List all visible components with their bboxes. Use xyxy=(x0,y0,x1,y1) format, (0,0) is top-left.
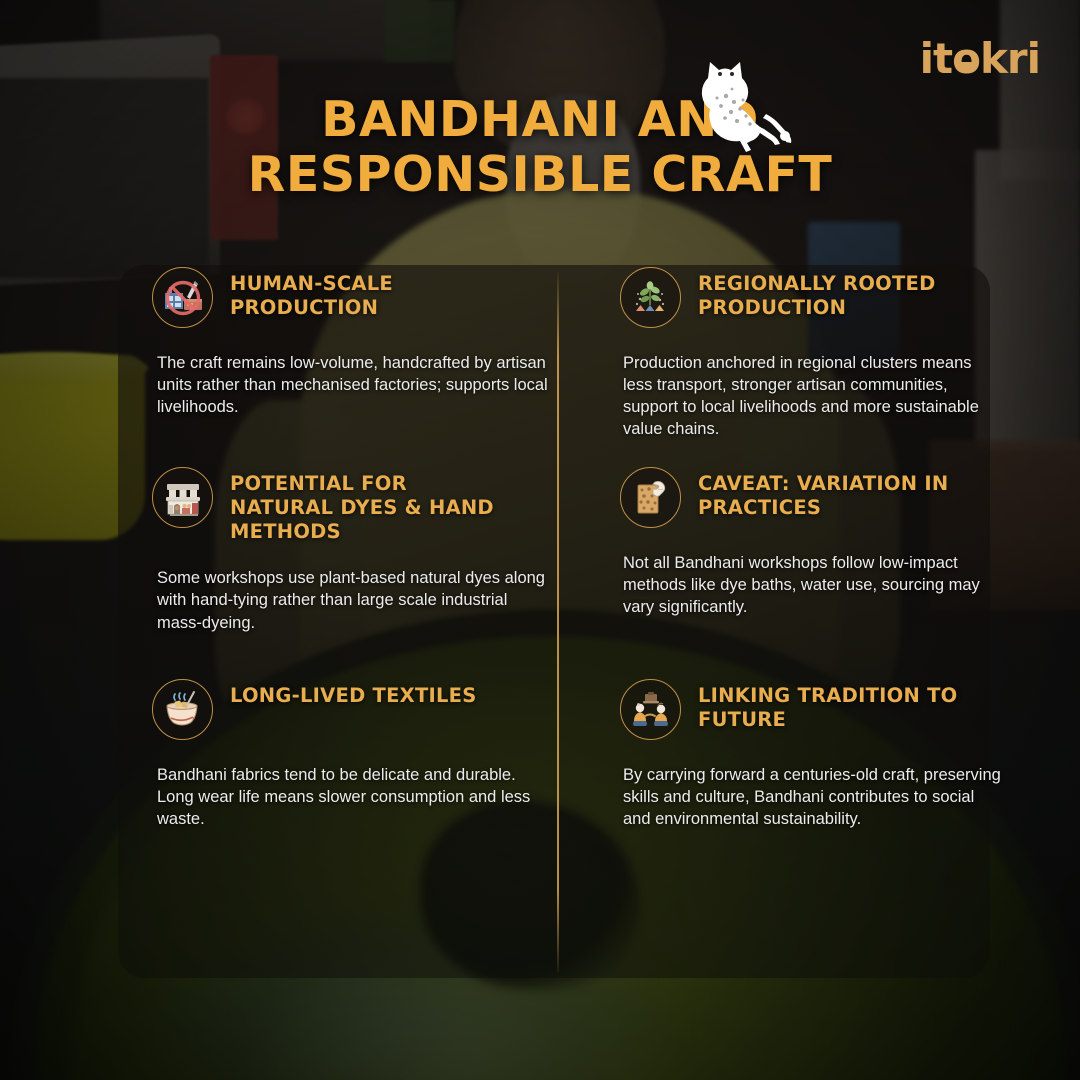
card-body: By carrying forward a centuries-old craf… xyxy=(620,764,1002,830)
benefits-grid: HUMAN-SCALE PRODUCTION The craft remains… xyxy=(0,265,1080,978)
card-body: Not all Bandhani workshops follow low-im… xyxy=(620,552,1002,618)
card-header: CAVEAT: VARIATION IN PRACTICES xyxy=(620,465,1002,528)
card-regionally-rooted-production: REGIONALLY ROOTED PRODUCTION Production … xyxy=(590,265,1028,465)
page-title-line-1: BANDHANI AND xyxy=(0,92,1080,147)
workshop-building-icon xyxy=(152,467,213,528)
page-title: BANDHANI AND RESPONSIBLE CRAFT xyxy=(0,92,1080,203)
seedling-soil-icon xyxy=(620,267,681,328)
card-potential-for-natural-dyes: POTENTIAL FOR NATURAL DYES & HAND METHOD… xyxy=(152,465,590,673)
card-title: REGIONALLY ROOTED PRODUCTION xyxy=(698,265,966,320)
card-header: LONG-LIVED TEXTILES xyxy=(152,677,566,740)
card-header: POTENTIAL FOR NATURAL DYES & HAND METHOD… xyxy=(152,465,566,543)
card-header: REGIONALLY ROOTED PRODUCTION xyxy=(620,265,1002,328)
no-factory-icon xyxy=(152,267,213,328)
card-header: LINKING TRADITION TO FUTURE xyxy=(620,677,1002,740)
hand-holding-fabric-icon xyxy=(620,467,681,528)
card-title: LONG-LIVED TEXTILES xyxy=(230,677,477,708)
card-body: The craft remains low-volume, handcrafte… xyxy=(152,352,552,418)
logo-basket-o: o xyxy=(952,38,980,80)
itokri-logo[interactable]: itokri xyxy=(920,38,1040,80)
logo-text-first: it xyxy=(920,34,952,83)
card-body: Production anchored in regional clusters… xyxy=(620,352,1002,440)
card-title: LINKING TRADITION TO FUTURE xyxy=(698,677,966,732)
card-title: HUMAN-SCALE PRODUCTION xyxy=(230,265,500,320)
page-title-line-2: RESPONSIBLE CRAFT xyxy=(0,147,1080,202)
steaming-dye-pot-icon xyxy=(152,679,213,740)
card-long-lived-textiles: LONG-LIVED TEXTILES Bandhani fabrics ten… xyxy=(152,673,590,978)
card-caveat-variation-in-practices: CAVEAT: VARIATION IN PRACTICES Not all B… xyxy=(590,465,1028,673)
card-body: Some workshops use plant-based natural d… xyxy=(152,567,552,633)
two-artisans-icon xyxy=(620,679,681,740)
card-title: CAVEAT: VARIATION IN PRACTICES xyxy=(698,465,966,520)
header: itokri BANDHANI AND RESPONSIBLE CRAFT xyxy=(0,0,1080,250)
card-header: HUMAN-SCALE PRODUCTION xyxy=(152,265,566,328)
card-title: POTENTIAL FOR NATURAL DYES & HAND METHOD… xyxy=(230,465,500,543)
card-body: Bandhani fabrics tend to be delicate and… xyxy=(152,764,552,830)
logo-text-last: kri xyxy=(980,34,1040,83)
card-linking-tradition-to-future: LINKING TRADITION TO FUTURE By carrying … xyxy=(590,673,1028,978)
white-cat-silhouette-icon xyxy=(688,52,798,152)
card-human-scale-production: HUMAN-SCALE PRODUCTION The craft remains… xyxy=(152,265,590,465)
